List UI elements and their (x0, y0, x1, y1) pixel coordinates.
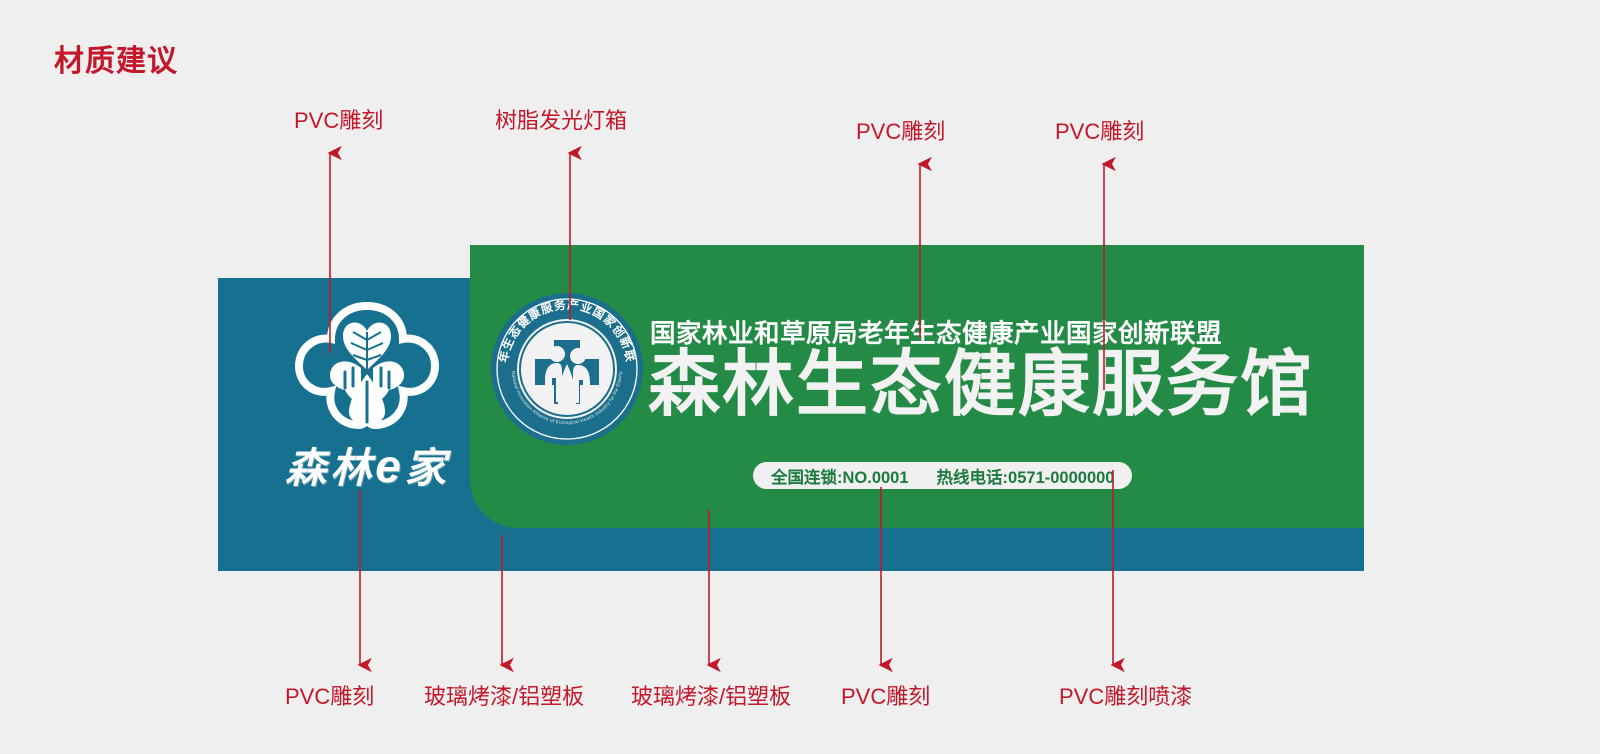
circular-health-alliance-emblem-icon: 老年生态健康服务产业国家创新联盟 National Innovation All… (490, 292, 644, 446)
callout-bottom-label-2: 玻璃烤漆/铝塑板 (424, 679, 584, 711)
callout-bottom-label-4: PVC雕刻 (841, 679, 930, 711)
left-brand-block: 森林e家 (265, 298, 470, 508)
brand-script-text: 森林e家 (265, 434, 470, 494)
brand-script-suffix: 家 (405, 445, 450, 491)
brand-script-e: e (375, 440, 405, 492)
badge-hotline: 热线电话:0571-0000000 (937, 464, 1115, 488)
callout-bottom-label-1: PVC雕刻 (285, 679, 374, 711)
brand-script-prefix: 森林 (285, 445, 375, 491)
page-title: 材质建议 (54, 36, 178, 80)
diagram-canvas: 材质建议 (0, 0, 1600, 754)
signboard-main-title: 森林生态健康服务馆 (648, 349, 1314, 421)
callout-top-label-2: 树脂发光灯箱 (495, 103, 627, 135)
callout-bottom-label-5: PVC雕刻喷漆 (1059, 679, 1192, 711)
callout-bottom-label-3: 玻璃烤漆/铝塑板 (631, 679, 791, 711)
signboard-mockup: 森林e家 (218, 245, 1366, 572)
callout-top-label-1: PVC雕刻 (294, 103, 383, 135)
status-badge: 全国连锁:NO.0001 热线电话:0571-0000000 (753, 462, 1132, 489)
forest-cloud-leaf-hands-logo-icon (287, 298, 447, 433)
callout-top-label-3: PVC雕刻 (856, 114, 945, 146)
callout-top-label-4: PVC雕刻 (1055, 114, 1144, 146)
badge-chain-number: 全国连锁:NO.0001 (771, 464, 909, 488)
